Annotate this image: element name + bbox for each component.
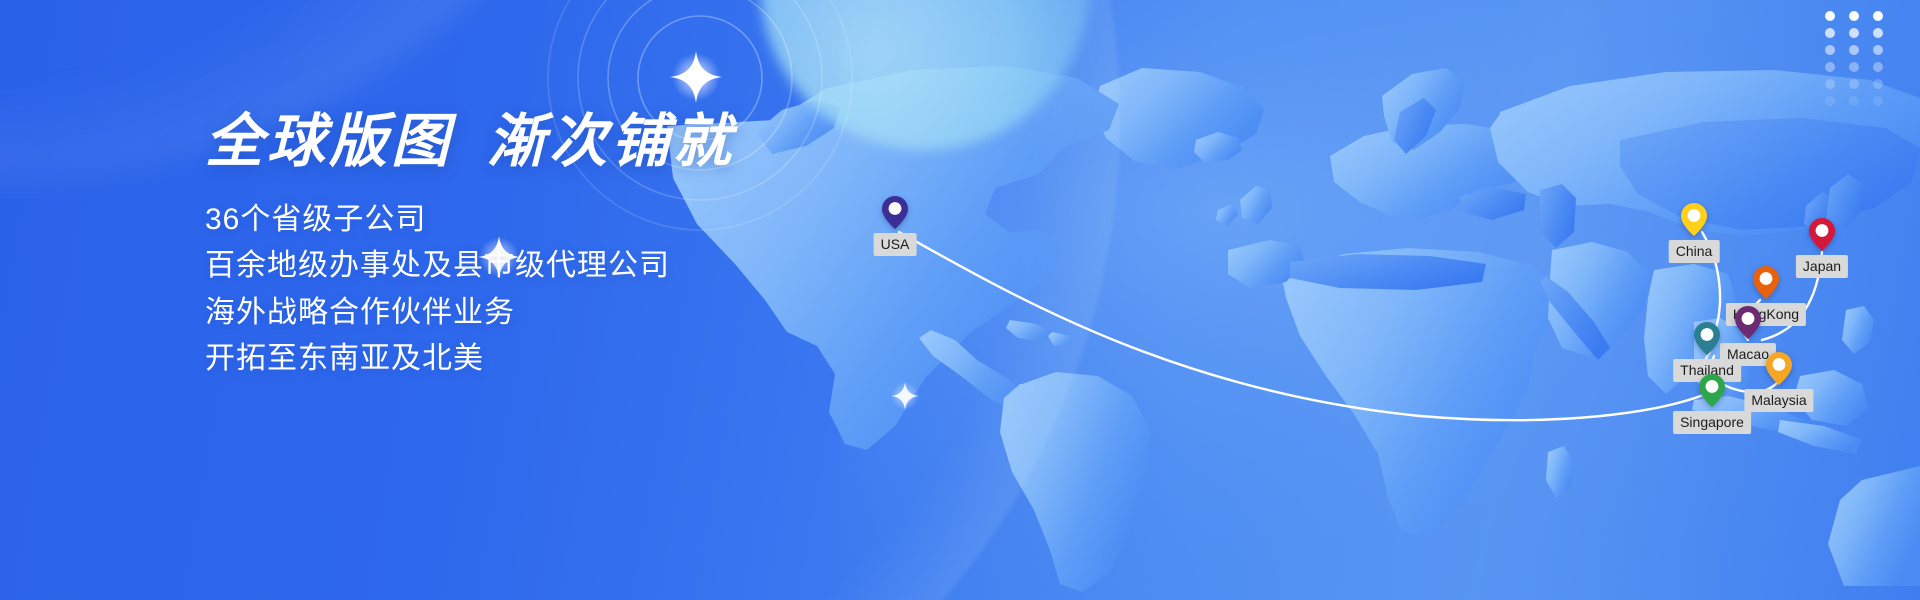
marker-japan[interactable]: Japan — [1809, 218, 1835, 252]
subtitle-line-4: 开拓至东南亚及北美 — [205, 336, 735, 383]
subtitle-line-1: 36个省级子公司 — [205, 197, 735, 244]
map-pin-icon — [1766, 352, 1792, 386]
marker-usa[interactable]: USA — [882, 196, 908, 230]
marker-label-china: China — [1669, 240, 1720, 263]
marker-thailand[interactable]: Thailand — [1694, 322, 1720, 356]
marker-label-japan: Japan — [1796, 255, 1848, 278]
map-pin-icon — [1694, 322, 1720, 356]
marker-label-singapore: Singapore — [1673, 411, 1751, 434]
banner-copy: 全球版图渐次铺就 36个省级子公司 百余地级办事处及县市级代理公司 海外战略合作… — [205, 112, 735, 383]
map-pin-icon — [1681, 203, 1707, 237]
map-pin-icon — [1735, 306, 1761, 340]
marker-label-usa: USA — [874, 233, 917, 256]
map-pin-icon — [1809, 218, 1835, 252]
subtitle-line-2: 百余地级办事处及县市级代理公司 — [205, 243, 735, 290]
map-pin-icon — [882, 196, 908, 230]
marker-label-malaysia: Malaysia — [1744, 389, 1813, 412]
marker-singapore[interactable]: Singapore — [1699, 374, 1725, 408]
headline-part-1: 全球版图 — [205, 109, 453, 174]
subtitle-list: 36个省级子公司 百余地级办事处及县市级代理公司 海外战略合作伙伴业务 开拓至东… — [205, 197, 735, 383]
map-pin-icon — [1753, 266, 1779, 300]
subtitle-line-3: 海外战略合作伙伴业务 — [205, 290, 735, 337]
page-title: 全球版图渐次铺就 — [205, 112, 735, 173]
marker-macao[interactable]: Macao — [1735, 306, 1761, 340]
marker-hongkong[interactable]: HongKong — [1753, 266, 1779, 300]
global-map-banner: USA China Japan HongKong — [0, 0, 1920, 600]
marker-malaysia[interactable]: Malaysia — [1766, 352, 1792, 386]
map-pin-icon — [1699, 374, 1725, 408]
marker-china[interactable]: China — [1681, 203, 1707, 237]
headline-part-2: 渐次铺就 — [487, 109, 735, 174]
